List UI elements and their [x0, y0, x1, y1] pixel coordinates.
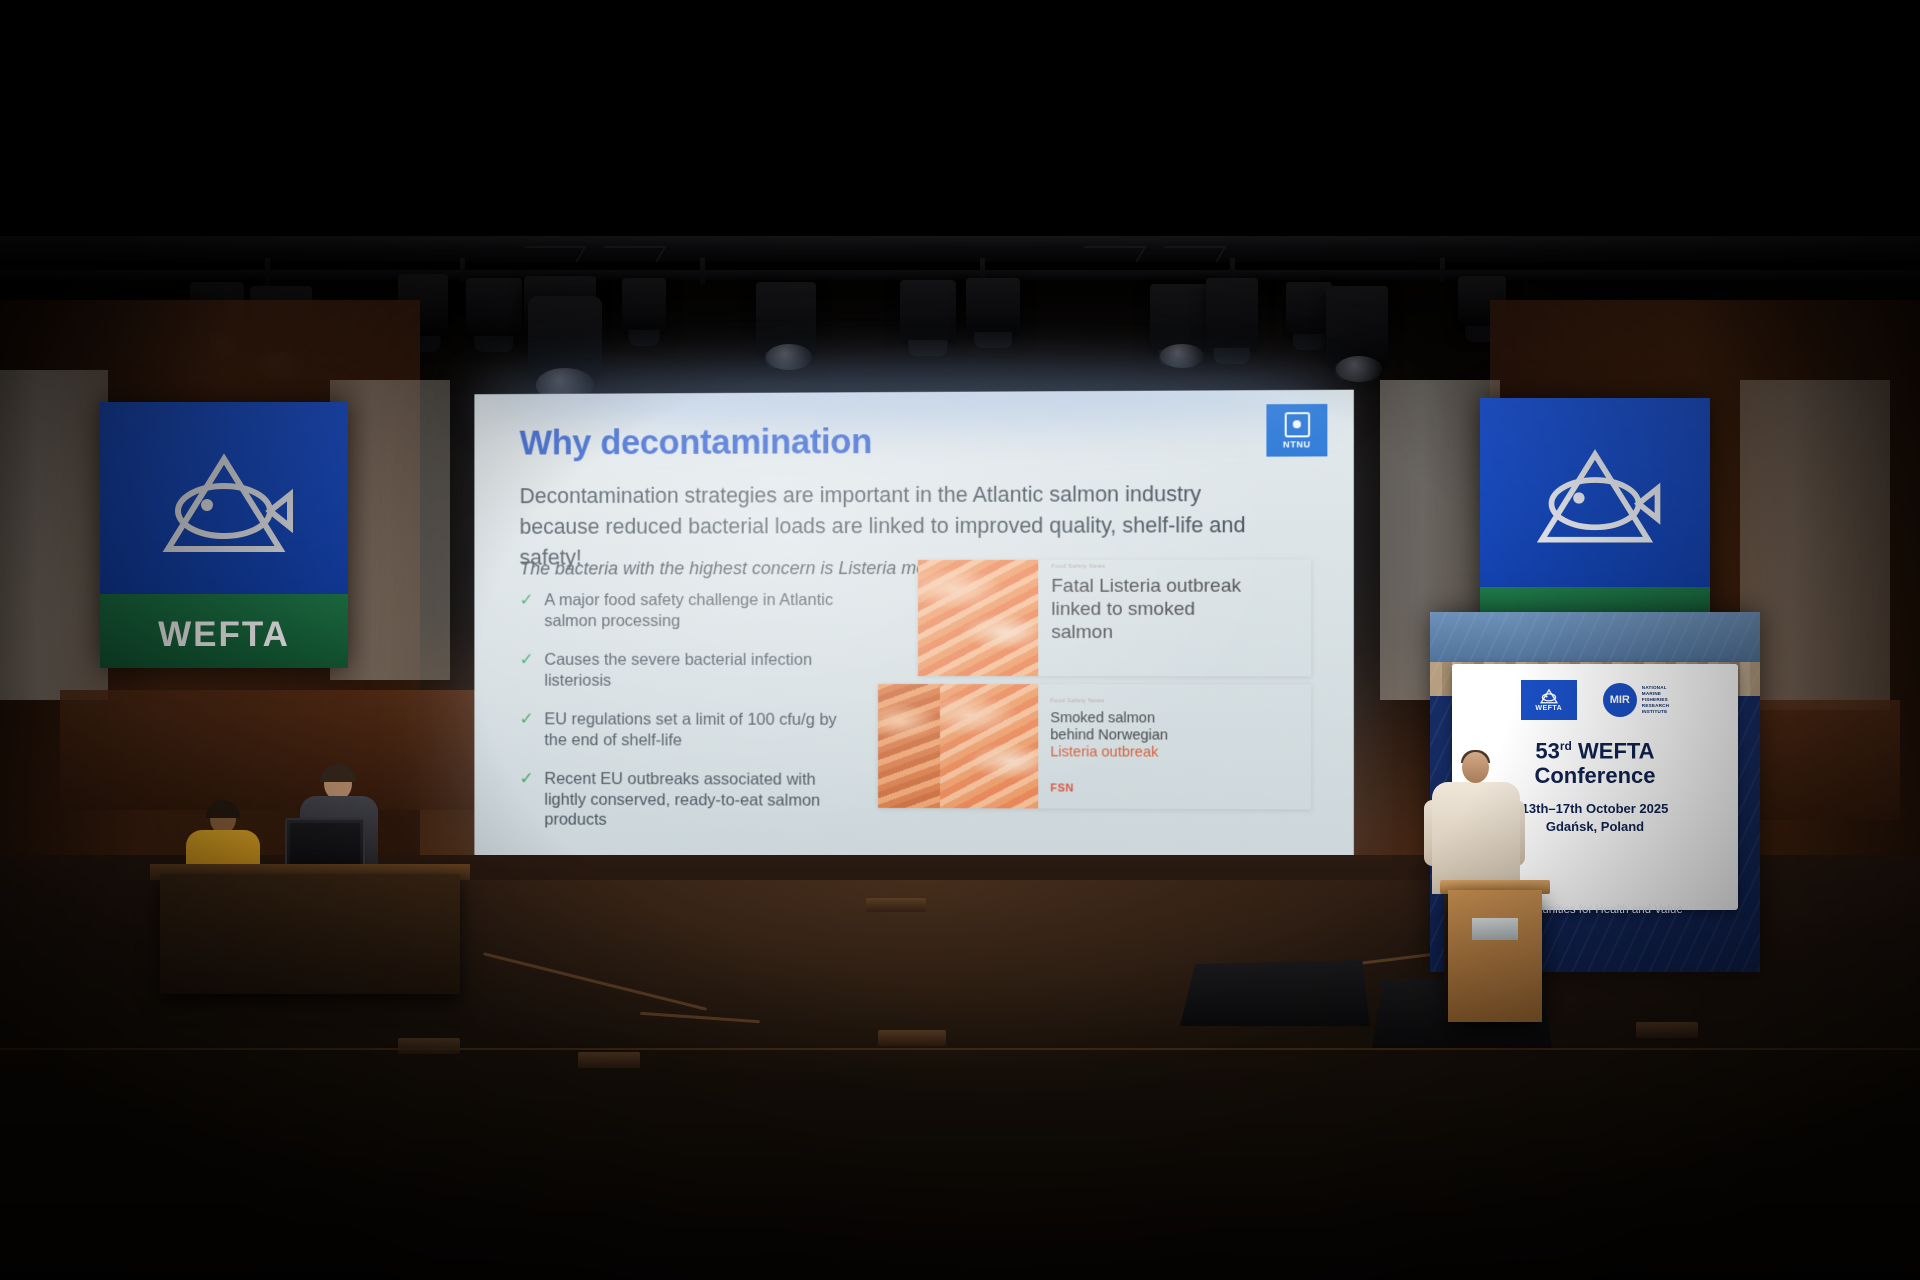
- wefta-banner-left-word: WEFTA: [100, 615, 348, 655]
- checkmark-icon: ✓: [520, 769, 534, 830]
- poster-dates-block: 13th–17th October 2025 Gdańsk, Poland: [1522, 800, 1669, 836]
- fsn-byline: FSN: [1050, 782, 1074, 794]
- stage-monitor-speaker: [1180, 960, 1370, 1026]
- list-item: ✓ Causes the severe bacterial infection …: [520, 650, 847, 691]
- stage-drape-far-right: [1740, 380, 1890, 710]
- podium-confidence-monitor: [1472, 918, 1518, 940]
- floor-plate: [1636, 1022, 1698, 1038]
- wefta-fish-icon: [1536, 688, 1562, 705]
- salmon-photo: [918, 560, 1038, 676]
- speaker-head: [1462, 752, 1489, 783]
- mir-badge: MIR: [1603, 683, 1637, 717]
- ceiling: [0, 0, 1920, 330]
- poster-logo-row: WEFTA MIR NATIONALMARINEFISHERIESRESEARC…: [1521, 680, 1669, 720]
- ntnu-mark-icon: [1284, 412, 1309, 437]
- stage-drape-left: [0, 370, 108, 700]
- lighting-truss-secondary: [0, 270, 1920, 280]
- stage-light: [966, 278, 1020, 336]
- speaker-torso: [1432, 782, 1520, 894]
- stage-light: [1206, 278, 1258, 352]
- news-headline: Fatal Listeria outbreak linked to smoked…: [1051, 575, 1253, 645]
- salmon-photo: [940, 684, 1038, 808]
- auditorium-scene: WEFTA WEFTA NTNU Why decontamination Dec…: [0, 0, 1920, 1280]
- bullet-text: Causes the severe bacterial infection li…: [544, 650, 846, 691]
- list-item: ✓ A major food safety challenge in Atlan…: [520, 590, 847, 631]
- stage-light: [466, 278, 522, 340]
- news-source-label: Food Safety News: [1051, 564, 1105, 570]
- news-headline-line-2: behind Norwegian: [1050, 727, 1168, 745]
- ntnu-logo: NTNU: [1266, 404, 1327, 457]
- floor-plate: [578, 1052, 640, 1068]
- news-headline-accent: Listeria outbreak: [1050, 744, 1158, 760]
- stage-light: [622, 278, 666, 334]
- poster-title-line2: Conference: [1534, 763, 1655, 788]
- checkmark-icon: ✓: [520, 650, 534, 691]
- wefta-logo-small: WEFTA: [1521, 680, 1577, 720]
- poster-edition-suffix: rd: [1560, 739, 1572, 753]
- wefta-fish-logo: [149, 445, 299, 565]
- panel-table: [160, 874, 460, 994]
- news-headline-line-1: Smoked salmon: [1050, 710, 1155, 728]
- floor-plate: [866, 898, 926, 912]
- bullet-text: A major food safety challenge in Atlanti…: [544, 590, 846, 631]
- slide-bullet-list: ✓ A major food safety challenge in Atlan…: [520, 590, 847, 850]
- wefta-logo-small-text: WEFTA: [1535, 705, 1562, 712]
- projection-screen: NTNU Why decontamination Decontamination…: [474, 390, 1353, 883]
- mir-institute-lines: NATIONALMARINEFISHERIESRESEARCHINSTITUTE: [1642, 685, 1669, 715]
- news-clipping-2: Food Safety News Smoked salmon behind No…: [878, 684, 1311, 810]
- list-item: ✓ EU regulations set a limit of 100 cfu/…: [520, 709, 847, 750]
- checkmark-icon: ✓: [520, 709, 534, 750]
- list-item: ✓ Recent EU outbreaks associated with li…: [520, 769, 847, 831]
- poster-edition-number: 53: [1535, 738, 1559, 763]
- lighting-truss: [0, 236, 1920, 262]
- floor-plate: [878, 1030, 946, 1046]
- news-source-label: Food Safety News: [1050, 698, 1104, 704]
- poster-title: 53rd WEFTA Conference: [1534, 734, 1655, 788]
- stage-drape-mid: [330, 380, 450, 680]
- bullet-text: Recent EU outbreaks associated with ligh…: [544, 769, 846, 831]
- wefta-fish-logo: [1524, 440, 1666, 556]
- checkmark-icon: ✓: [520, 590, 534, 631]
- poster-location: Gdańsk, Poland: [1522, 818, 1669, 836]
- poster-dates: 13th–17th October 2025: [1522, 800, 1669, 818]
- bullet-text: EU regulations set a limit of 100 cfu/g …: [544, 709, 846, 750]
- stage-light: [900, 280, 956, 344]
- salmon-photo: [878, 684, 940, 808]
- podium: [1448, 890, 1542, 1022]
- slide-title: Why decontamination: [520, 422, 873, 463]
- news-clipping-1: Food Safety News Fatal Listeria outbreak…: [918, 559, 1311, 676]
- news-headline-line-3: Listeria outbreak: [1050, 744, 1158, 762]
- wood-panel: [60, 690, 480, 810]
- wefta-banner-left: WEFTA: [100, 402, 348, 668]
- poster-title-rest: WEFTA: [1572, 738, 1655, 763]
- mir-logo: MIR NATIONALMARINEFISHERIESRESEARCHINSTI…: [1603, 683, 1669, 717]
- floor-plate: [398, 1038, 460, 1054]
- ntnu-wordmark: NTNU: [1283, 439, 1311, 449]
